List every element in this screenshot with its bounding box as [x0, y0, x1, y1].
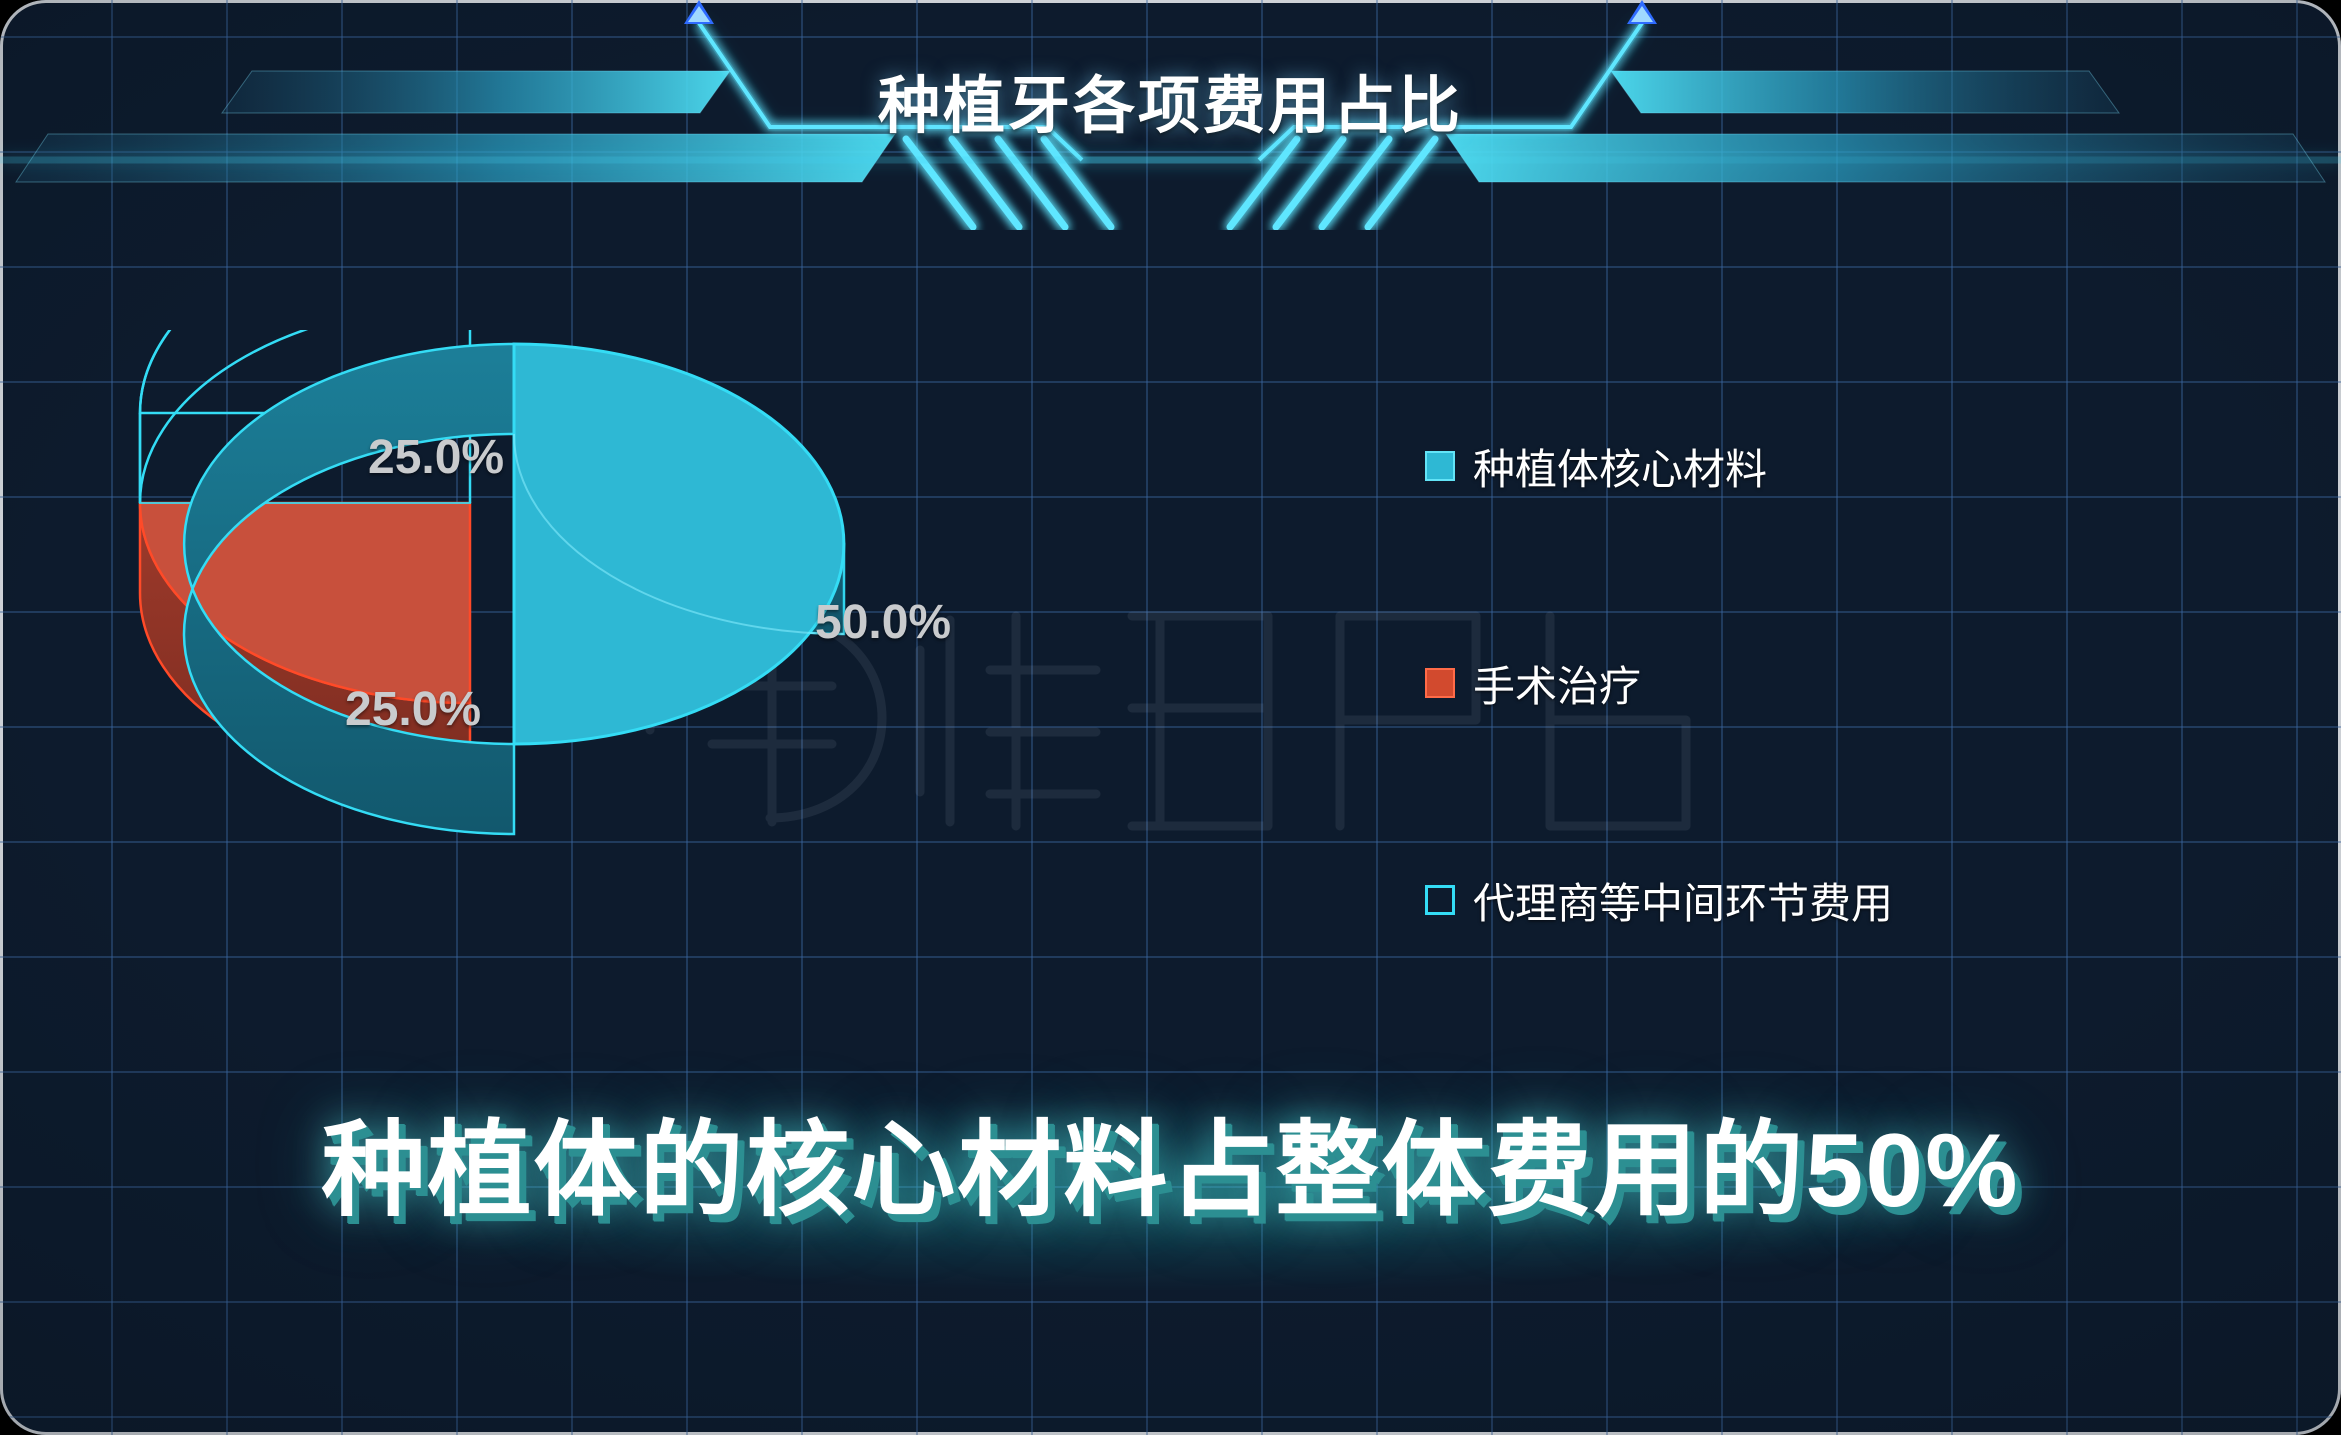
legend-item-implant-material[interactable]: 种植体核心材料 — [1425, 430, 2065, 502]
legend-item-agent-fees[interactable]: 代理商等中间环节费用 — [1425, 864, 2065, 936]
legend-item-surgery[interactable]: 手术治疗 — [1425, 647, 2065, 719]
legend-swatch-agent-fees — [1425, 885, 1455, 915]
pie-label-implant-material: 50.0% — [815, 595, 951, 650]
header-banner: 种植牙各项费用占比 — [0, 0, 2341, 230]
legend-label-implant-material: 种植体核心材料 — [1473, 436, 1767, 497]
chart-legend: 种植体核心材料 手术治疗 代理商等中间环节费用 — [1425, 430, 2065, 1081]
infographic-root: 种植牙各项费用占比 — [0, 0, 2341, 1435]
caption-text: 种植体的核心材料占整体费用的50% — [321, 1085, 2019, 1236]
legend-label-agent-fees: 代理商等中间环节费用 — [1473, 870, 1893, 931]
page-title: 种植牙各项费用占比 — [0, 55, 2341, 145]
infographic-panel: 种植牙各项费用占比 — [0, 0, 2341, 1435]
pie-label-surgery: 25.0% — [345, 682, 481, 737]
legend-swatch-implant-material — [1425, 451, 1455, 481]
caption-wrap: 种植体的核心材料占整体费用的50% — [0, 1085, 2341, 1236]
pie-chart-svg — [120, 330, 1360, 980]
pie-chart: 25.0% 25.0% 50.0% — [120, 330, 1360, 980]
pie-label-agent-fees: 25.0% — [368, 430, 504, 485]
legend-label-surgery: 手术治疗 — [1473, 653, 1641, 714]
legend-swatch-surgery — [1425, 668, 1455, 698]
